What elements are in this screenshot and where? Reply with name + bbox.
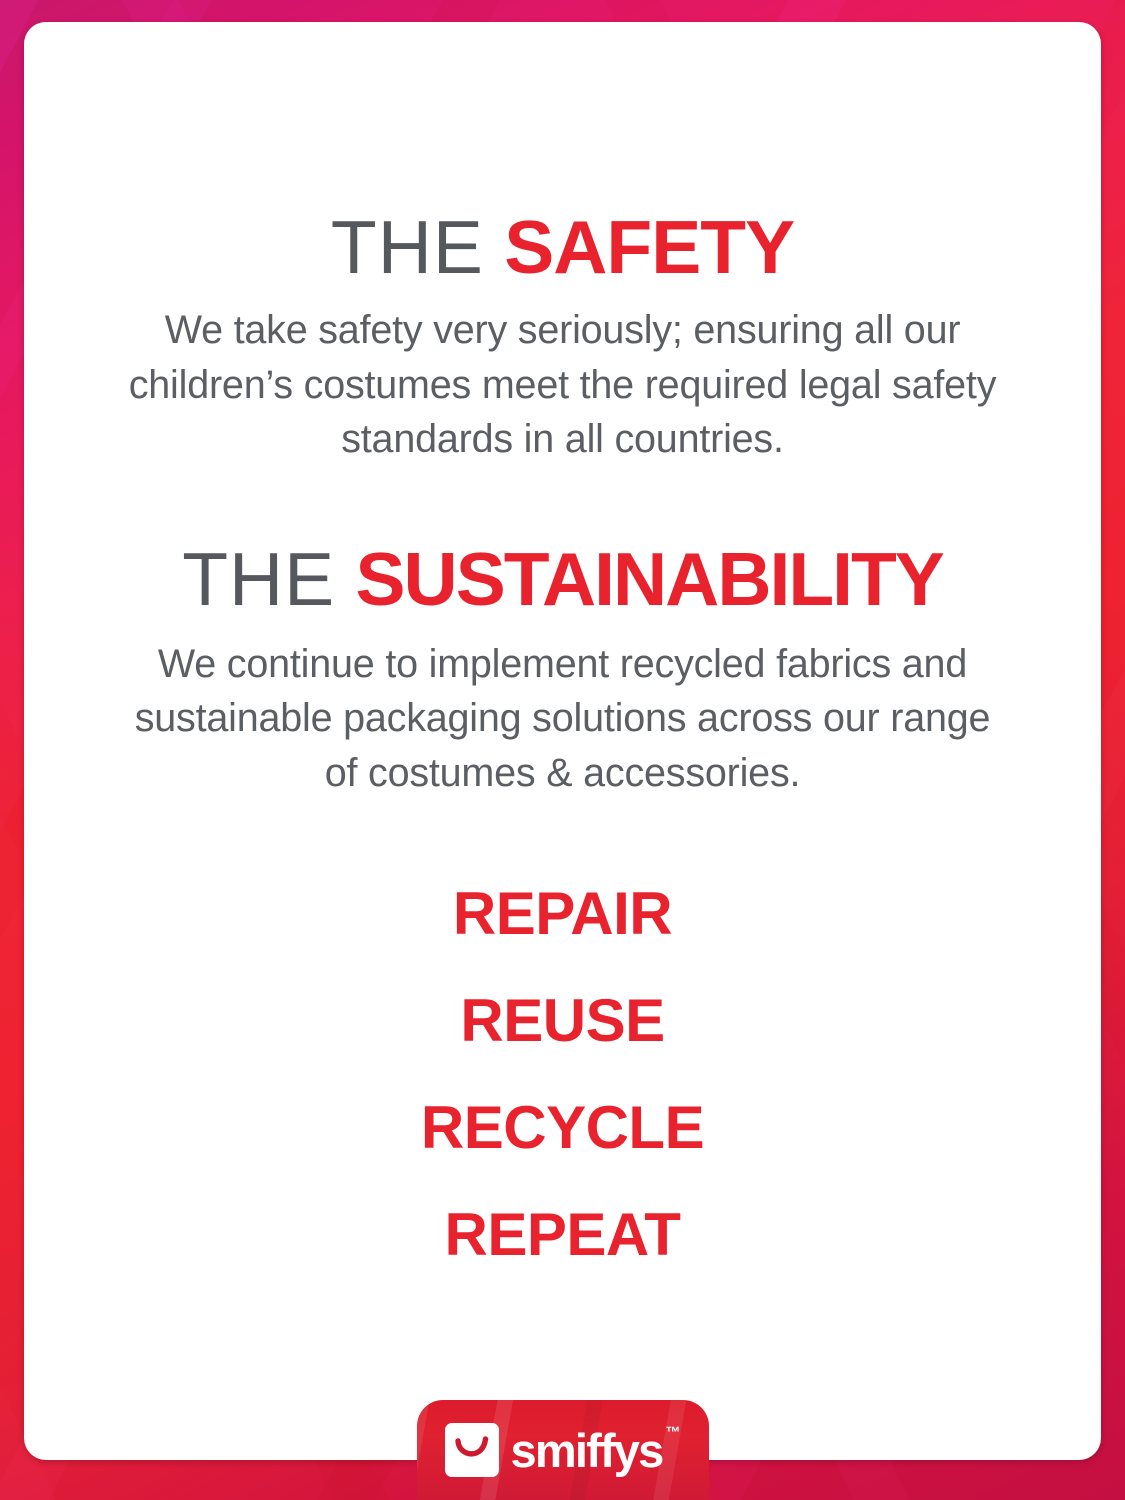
slogan-item-repeat: REPEAT — [116, 1205, 1009, 1265]
safety-heading-prefix: THE — [331, 205, 484, 289]
slogan-item-reuse: REUSE — [116, 991, 1009, 1051]
content-card-inner: THE SAFETY We take safety very seriously… — [24, 22, 1101, 1460]
slogan-list: REPAIR REUSE RECYCLE REPEAT — [116, 884, 1009, 1265]
sustainability-heading-accent: SUSTAINABILITY — [356, 537, 943, 621]
safety-section-heading: THE SAFETY — [116, 210, 1009, 285]
safety-heading-accent: SAFETY — [504, 205, 794, 289]
smiffys-wordmark: smiffys™ — [511, 1427, 681, 1474]
smiffys-logo: smiffys™ — [417, 1400, 709, 1500]
smiffys-wordmark-text: smiffys — [511, 1424, 663, 1477]
smile-arc-icon — [445, 1423, 499, 1477]
slogan-item-recycle: RECYCLE — [116, 1098, 1009, 1158]
trademark-symbol: ™ — [665, 1425, 680, 1440]
slogan-item-repair: REPAIR — [116, 884, 1009, 944]
safety-body-text: We take safety very seriously; ensuring … — [116, 303, 1009, 467]
sustainability-body-text: We continue to implement recycled fabric… — [116, 637, 1009, 801]
sustainability-heading-prefix: THE — [182, 537, 335, 621]
sustainability-section-heading: THE SUSTAINABILITY — [116, 542, 1009, 617]
content-card: THE SAFETY We take safety very seriously… — [24, 22, 1101, 1460]
